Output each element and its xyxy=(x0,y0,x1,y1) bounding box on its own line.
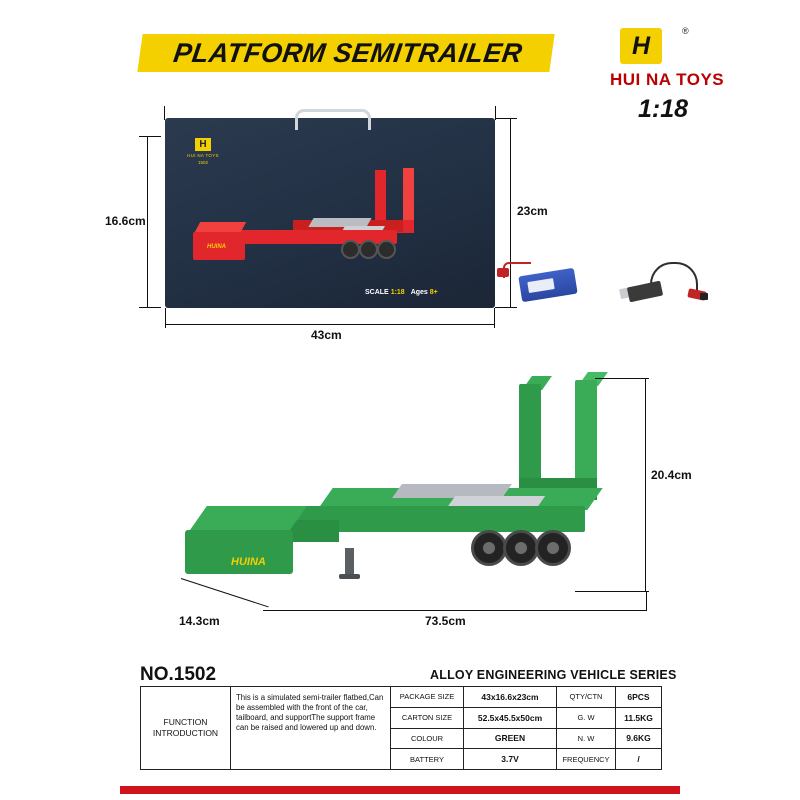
table-row: PACKAGE SIZE 43x16.6x23cm QTY/CTN 6PCS xyxy=(391,687,661,708)
dim-guide xyxy=(139,136,161,137)
dim-guide xyxy=(646,591,647,611)
dim-guide xyxy=(575,591,649,592)
table-row: BATTERY 3.7V FREQUENCY / xyxy=(391,749,661,769)
dim-guide xyxy=(495,118,517,119)
dim-height-label: 23cm xyxy=(517,204,548,218)
wheel-hub xyxy=(547,542,559,554)
box-scale-label: SCALE xyxy=(365,289,389,296)
dim-width-label: 43cm xyxy=(311,328,342,342)
box-scale-value: 1:18 xyxy=(391,289,405,296)
dim-line-length xyxy=(263,610,647,611)
table-row: COLOUR GREEN N. W 9.6KG xyxy=(391,729,661,750)
dim-guide xyxy=(595,378,649,379)
wheel-hub xyxy=(483,542,495,554)
series-title: ALLOY ENGINEERING VEHICLE SERIES xyxy=(430,668,677,682)
box-age-value: 8+ xyxy=(430,289,438,296)
package-box-photo: H HUI NA TOYS 1502 HUINA xyxy=(165,118,495,308)
function-introduction-text: This is a simulated semi-trailer flatbed… xyxy=(231,687,391,769)
usb-charging-cable xyxy=(627,281,663,303)
dim-line-height xyxy=(510,118,511,308)
wheel-hub xyxy=(515,542,527,554)
package-box: H HUI NA TOYS 1502 HUINA xyxy=(165,118,495,308)
dim-depth-label: 16.6cm xyxy=(105,214,146,228)
usb-cable-tip xyxy=(700,293,708,300)
wheel xyxy=(503,530,539,566)
red-trailer-illustration: HUINA xyxy=(193,156,443,286)
support-leg-foot xyxy=(339,574,360,579)
product-spec-sheet: PLATFORM SEMITRAILER H ® HUI NA TOYS 1:1… xyxy=(0,0,800,800)
dim-line-width xyxy=(181,578,269,607)
trailer-logo: HUINA xyxy=(207,244,226,250)
brand-logo-icon: H xyxy=(620,28,662,64)
footer-bar xyxy=(120,786,680,794)
wheel xyxy=(341,240,360,259)
spec-label: CARTON SIZE xyxy=(391,708,464,728)
table-row: CARTON SIZE 52.5x45.5x50cm G. W 11.5KG xyxy=(391,708,661,729)
product-photo: HUINA 20.4cm 73.5cm 14.3cm xyxy=(175,370,645,620)
ramp-right xyxy=(575,380,597,490)
box-age-label: Ages xyxy=(411,289,428,296)
box-handle-icon xyxy=(295,109,371,130)
scale-label: 1:18 xyxy=(638,95,688,124)
spec-value-2: 6PCS xyxy=(616,687,661,707)
spec-label: COLOUR xyxy=(391,729,464,749)
dim-line-depth xyxy=(147,136,148,308)
box-badges: SCALE 1:18 Ages 8+ xyxy=(365,289,438,296)
wheel xyxy=(471,530,507,566)
spec-value-2: 11.5KG xyxy=(616,708,661,728)
spec-value: 52.5x45.5x50cm xyxy=(464,708,557,728)
spec-label-2: QTY/CTN xyxy=(557,687,616,707)
registered-trademark-icon: ® xyxy=(682,26,689,36)
spec-rows: PACKAGE SIZE 43x16.6x23cm QTY/CTN 6PCS C… xyxy=(391,687,661,769)
spec-value: 43x16.6x23cm xyxy=(464,687,557,707)
battery-label xyxy=(527,278,554,293)
spec-label-2: FREQUENCY xyxy=(557,749,616,769)
product-logo: HUINA xyxy=(231,556,266,568)
box-age-badge: Ages 8+ xyxy=(411,289,438,296)
spec-label: BATTERY xyxy=(391,749,464,769)
spec-value: GREEN xyxy=(464,729,557,749)
spec-label-2: N. W xyxy=(557,729,616,749)
brand-name: HUI NA TOYS xyxy=(610,70,780,90)
wheel xyxy=(359,240,378,259)
spec-value: 3.7V xyxy=(464,749,557,769)
spec-label: PACKAGE SIZE xyxy=(391,687,464,707)
dim-height-label: 20.4cm xyxy=(651,468,692,482)
dim-line-width xyxy=(165,324,495,325)
spec-value-2: / xyxy=(616,749,661,769)
wheel xyxy=(535,530,571,566)
wheel xyxy=(377,240,396,259)
dim-guide xyxy=(164,106,165,120)
spec-label-2: G. W xyxy=(557,708,616,728)
spec-value-2: 9.6KG xyxy=(616,729,661,749)
dim-guide xyxy=(165,308,166,328)
dim-guide xyxy=(494,308,495,328)
page-title: PLATFORM SEMITRAILER xyxy=(144,36,553,70)
dim-line-height xyxy=(645,378,646,592)
model-number: NO.1502 xyxy=(140,664,216,686)
dim-width-label: 14.3cm xyxy=(179,614,220,628)
box-logo-letter: H xyxy=(195,138,211,151)
support-leg xyxy=(345,548,354,576)
specification-table: FUNCTIONINTRODUCTION This is a simulated… xyxy=(140,686,662,770)
dim-guide xyxy=(495,307,517,308)
dim-guide xyxy=(139,307,161,308)
box-scale-badge: SCALE 1:18 xyxy=(365,289,405,296)
dim-length-label: 73.5cm xyxy=(425,614,466,628)
function-introduction-heading: FUNCTIONINTRODUCTION xyxy=(141,687,231,769)
